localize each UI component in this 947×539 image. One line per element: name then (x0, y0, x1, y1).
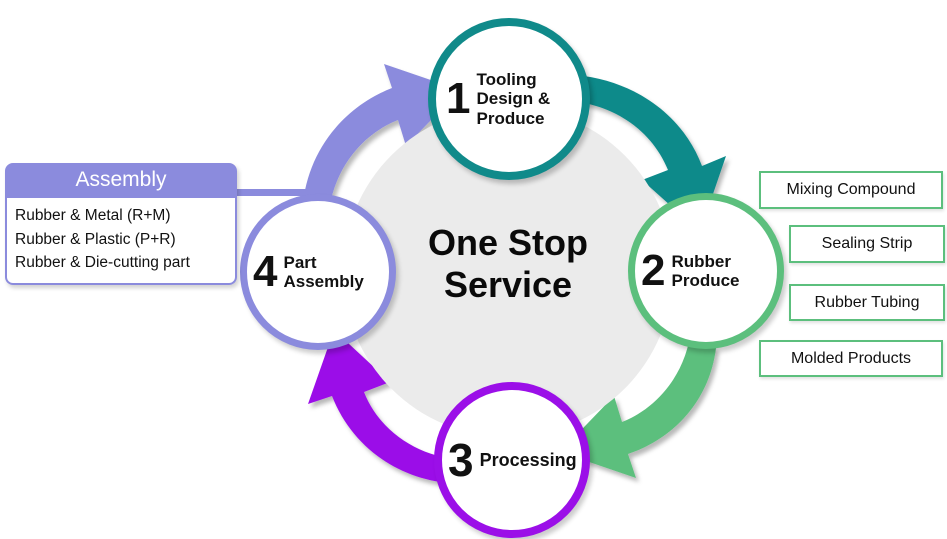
one-stop-service-diagram: 1 Tooling Design & Produce 2 Rubber Prod… (0, 0, 947, 539)
node-1-number: 1 (446, 77, 470, 121)
node-2-number: 2 (641, 249, 665, 293)
node-rubber-produce[interactable]: 2 Rubber Produce (628, 193, 784, 349)
node-processing[interactable]: 3 Processing (434, 382, 590, 538)
product-box-mixing-compound[interactable]: Mixing Compound (759, 171, 943, 209)
node-2-label: Rubber Produce (671, 252, 739, 290)
center-title: One Stop Service (378, 222, 638, 307)
node-part-assembly[interactable]: 4 Part Assembly (240, 194, 396, 350)
product-box-sealing-strip[interactable]: Sealing Strip (789, 225, 945, 263)
assembly-panel-body: Rubber & Metal (R+M) Rubber & Plastic (P… (5, 198, 237, 285)
assembly-item: Rubber & Die-cutting part (15, 251, 227, 275)
node-3-number: 3 (448, 437, 474, 483)
node-1-label: Tooling Design & Produce (476, 70, 550, 127)
assembly-item: Rubber & Metal (R+M) (15, 204, 227, 228)
node-4-number: 4 (253, 250, 277, 294)
node-3-label: Processing (480, 450, 577, 470)
node-tooling-design-produce[interactable]: 1 Tooling Design & Produce (428, 18, 590, 180)
product-box-molded-products[interactable]: Molded Products (759, 340, 943, 377)
assembly-panel: Assembly Rubber & Metal (R+M) Rubber & P… (5, 163, 237, 285)
node-4-label: Part Assembly (283, 253, 363, 291)
assembly-item: Rubber & Plastic (P+R) (15, 228, 227, 252)
assembly-panel-header: Assembly (5, 163, 237, 198)
product-box-rubber-tubing[interactable]: Rubber Tubing (789, 284, 945, 321)
